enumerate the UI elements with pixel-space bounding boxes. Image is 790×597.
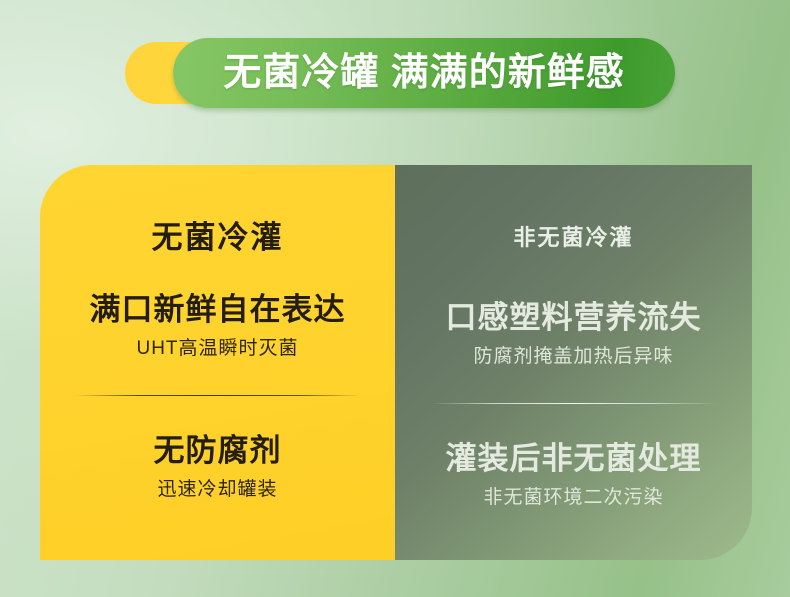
good-feature-1-title: 满口新鲜自在表达 <box>40 291 395 330</box>
good-feature-1-subtitle: UHT高温瞬时灭菌 <box>40 335 395 364</box>
good-column-heading: 无菌冷灌 <box>40 212 395 257</box>
panel-aseptic-good: 无菌冷灌 满口新鲜自在表达 UHT高温瞬时灭菌 无防腐剂 迅速冷却罐装 <box>40 165 395 560</box>
good-feature-2: 无防腐剂 迅速冷却罐装 <box>40 432 395 504</box>
good-feature-2-title: 无防腐剂 <box>40 432 395 471</box>
good-feature-1: 满口新鲜自在表达 UHT高温瞬时灭菌 <box>40 291 395 363</box>
bad-feature-2-subtitle: 非无菌环境二次污染 <box>395 484 752 513</box>
bad-feature-1-title: 口感塑料营养流失 <box>395 299 752 338</box>
good-feature-2-subtitle: 迅速冷却罐装 <box>40 476 395 505</box>
panel-nonaseptic-bad: 非无菌冷灌 口感塑料营养流失 防腐剂掩盖加热后异味 灌装后非无菌处理 非无菌环境… <box>395 165 752 560</box>
bad-feature-1-subtitle: 防腐剂掩盖加热后异味 <box>395 343 752 372</box>
comparison-section: 无菌冷灌 满口新鲜自在表达 UHT高温瞬时灭菌 无防腐剂 迅速冷却罐装 非无菌冷… <box>40 165 752 560</box>
bad-feature-2: 灌装后非无菌处理 非无菌环境二次污染 <box>395 440 752 512</box>
header-banner: 无菌冷罐 满满的新鲜感 <box>125 38 675 110</box>
bad-divider <box>431 403 717 404</box>
good-divider <box>75 395 361 396</box>
bad-column-heading: 非无菌冷灌 <box>395 220 752 252</box>
bad-feature-1: 口感塑料营养流失 防腐剂掩盖加热后异味 <box>395 299 752 371</box>
banner-green-pill: 无菌冷罐 满满的新鲜感 <box>173 38 675 108</box>
banner-title: 无菌冷罐 满满的新鲜感 <box>223 54 625 92</box>
bad-feature-2-title: 灌装后非无菌处理 <box>395 440 752 479</box>
